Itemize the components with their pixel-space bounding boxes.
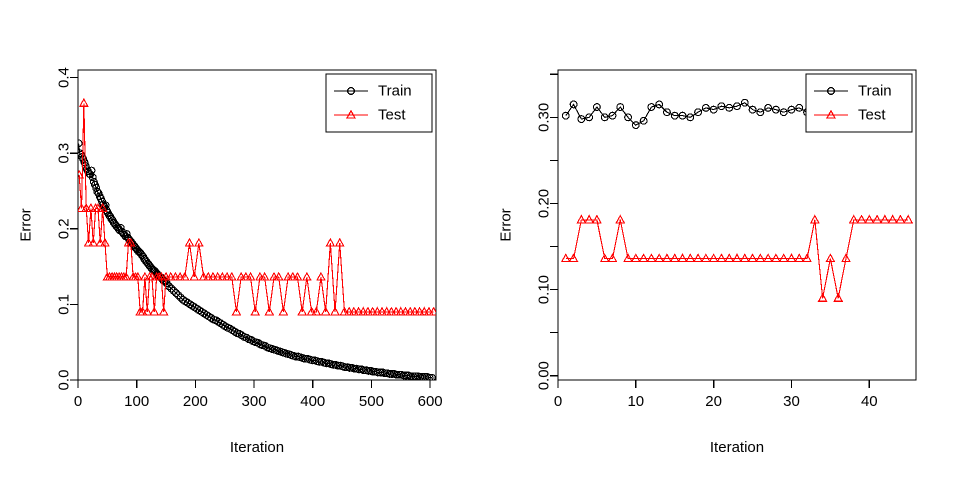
- data-point-triangle: [679, 254, 687, 261]
- data-point-triangle: [858, 216, 866, 223]
- data-point-triangle: [795, 254, 803, 261]
- x-axis-title: Iteration: [230, 439, 284, 456]
- left-plot-svg: 01002003004005006000.00.10.20.30.4Iterat…: [0, 0, 480, 480]
- r-plot-figure: 01002003004005006000.00.10.20.30.4Iterat…: [0, 0, 960, 480]
- data-point-triangle: [717, 254, 725, 261]
- y-tick-label: 0.10: [536, 275, 553, 304]
- x-tick-label: 200: [183, 393, 208, 410]
- x-tick-label: 10: [627, 393, 644, 410]
- x-tick-label: 400: [300, 393, 325, 410]
- y-axis: 0.000.100.200.30: [536, 74, 559, 390]
- legend[interactable]: TrainTest: [806, 74, 912, 132]
- y-tick-label: 0.4: [56, 67, 73, 88]
- x-tick-label: 300: [242, 393, 267, 410]
- y-tick-label: 0.0: [56, 370, 73, 391]
- data-point-triangle: [756, 254, 764, 261]
- data-point-triangle: [873, 216, 881, 223]
- data-point-triangle: [896, 216, 904, 223]
- data-point-triangle: [764, 254, 772, 261]
- data-point-triangle: [780, 254, 788, 261]
- data-point-triangle: [562, 254, 570, 261]
- data-point-triangle: [710, 254, 718, 261]
- data-point-triangle: [865, 216, 873, 223]
- series-train: [75, 140, 435, 381]
- chart-panel-right: 0102030400.000.100.200.30IterationErrorT…: [480, 0, 960, 480]
- x-axis: 0100200300400500600: [74, 380, 443, 410]
- data-point-triangle: [733, 254, 741, 261]
- data-point-triangle: [686, 254, 694, 261]
- x-tick-label: 0: [554, 393, 562, 410]
- y-tick-label: 0.2: [56, 218, 73, 239]
- legend-label: Train: [858, 83, 892, 100]
- data-point-triangle: [647, 254, 655, 261]
- data-point-triangle: [772, 254, 780, 261]
- series-polyline: [566, 220, 908, 298]
- data-point-triangle: [787, 254, 795, 261]
- data-point-triangle: [585, 216, 593, 223]
- y-tick-label: 0.1: [56, 294, 73, 315]
- x-axis: 010203040: [554, 380, 878, 410]
- y-axis-title: Error: [18, 208, 35, 241]
- data-point-triangle: [632, 254, 640, 261]
- y-tick-label: 0.20: [536, 189, 553, 218]
- legend-label: Train: [378, 83, 412, 100]
- right-plot-svg: 0102030400.000.100.200.30IterationErrorT…: [480, 0, 960, 480]
- legend[interactable]: TrainTest: [326, 74, 432, 132]
- data-point-triangle: [663, 254, 671, 261]
- data-point-triangle: [640, 254, 648, 261]
- data-point-triangle: [741, 254, 749, 261]
- chart-panel-left: 01002003004005006000.00.10.20.30.4Iterat…: [0, 0, 480, 480]
- data-point-triangle: [702, 254, 710, 261]
- data-point-triangle: [655, 254, 663, 261]
- x-tick-label: 40: [861, 393, 878, 410]
- y-tick-label: 0.30: [536, 103, 553, 132]
- x-tick-label: 600: [418, 393, 443, 410]
- y-axis: 0.00.10.20.30.4: [56, 67, 79, 390]
- data-point-triangle: [889, 216, 897, 223]
- x-tick-label: 20: [705, 393, 722, 410]
- data-point-triangle: [749, 254, 757, 261]
- data-point-triangle: [694, 254, 702, 261]
- x-tick-label: 500: [359, 393, 384, 410]
- series-test: [562, 216, 912, 302]
- data-point-triangle: [904, 216, 912, 223]
- x-tick-label: 0: [74, 393, 82, 410]
- data-point-triangle: [725, 254, 733, 261]
- x-tick-label: 100: [124, 393, 149, 410]
- y-tick-label: 0.00: [536, 361, 553, 390]
- data-point-triangle: [671, 254, 679, 261]
- y-tick-label: 0.3: [56, 143, 73, 164]
- x-axis-title: Iteration: [710, 439, 764, 456]
- x-tick-label: 30: [783, 393, 800, 410]
- legend-label: Test: [858, 107, 886, 124]
- legend-label: Test: [378, 107, 406, 124]
- data-point-triangle: [881, 216, 889, 223]
- y-axis-title: Error: [498, 208, 515, 241]
